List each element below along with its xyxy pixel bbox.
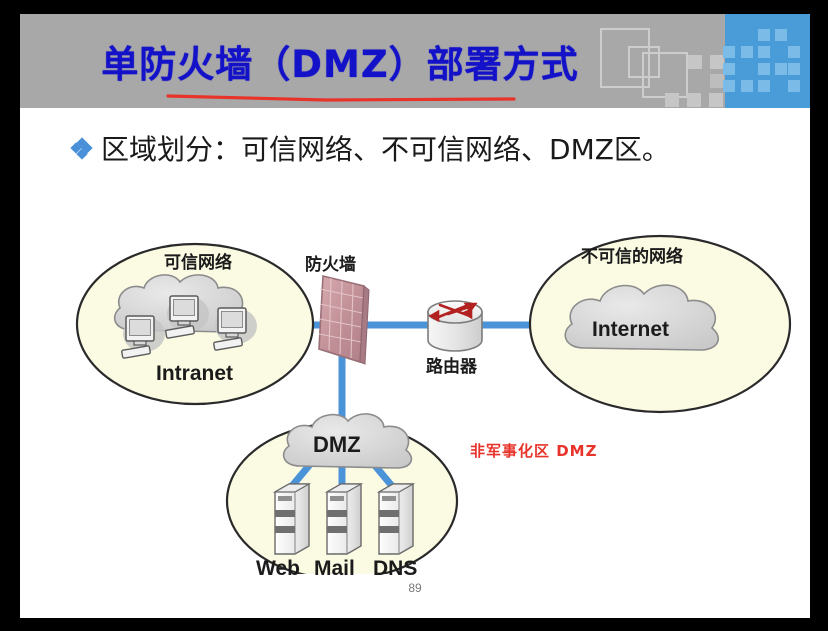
server-label-dns: DNS [373,557,417,581]
dmz-annotation: 非军事化区 DMZ [470,440,597,461]
deco-square-blue [758,29,770,41]
intranet-cloud-label: Intranet [156,362,233,386]
diagram-canvas [20,194,810,574]
deco-square [688,55,702,69]
deco-square-blue [741,80,753,92]
page-number: 89 [20,581,810,595]
firewall-icon [319,276,369,364]
deco-square [687,93,701,107]
diamond-bullet-icon [72,139,91,158]
slide-page: 单防火墙（DMZ）部署方式 区域划分：可信网络、不可信网络、DMZ区。 [20,14,810,618]
server-dns-icon [379,484,413,554]
server-label-web: Web [256,557,300,581]
deco-square-blue [741,46,753,58]
untrusted-zone-label: 不可信的网络 [581,242,683,267]
server-web-icon [275,484,309,554]
deco-square-blue [788,63,800,75]
network-diagram: 可信网络 Intranet 防火墙 路由器 不可信的网络 Internet DM… [20,194,810,574]
trusted-zone-label: 可信网络 [164,248,232,273]
deco-square-blue [723,80,735,92]
page-title: 单防火墙（DMZ）部署方式 [20,34,660,88]
deco-square [710,74,724,88]
internet-cloud-label: Internet [592,318,669,342]
deco-square-blue [758,63,770,75]
server-mail-icon [327,484,361,554]
router-icon [428,301,482,351]
bullet-row: 区域划分：可信网络、不可信网络、DMZ区。 [72,128,670,168]
deco-square-blue [758,46,770,58]
deco-square-blue [723,63,735,75]
deco-square-blue [758,80,770,92]
deco-square [665,93,679,107]
deco-square-blue [788,46,800,58]
title-underline [166,94,516,102]
slide-header: 单防火墙（DMZ）部署方式 [20,14,810,108]
deco-square-blue [723,46,735,58]
deco-square-blue [775,63,787,75]
firewall-label: 防火墙 [305,250,356,275]
deco-square-blue [775,29,787,41]
router-label: 路由器 [426,352,477,377]
deco-square [710,55,724,69]
slide-root: 单防火墙（DMZ）部署方式 区域划分：可信网络、不可信网络、DMZ区。 [0,0,828,631]
dmz-cloud-label: DMZ [313,432,361,458]
server-label-mail: Mail [314,557,355,581]
header-accent-panel [725,14,810,108]
bullet-text: 区域划分：可信网络、不可信网络、DMZ区。 [101,128,670,168]
deco-square-blue [788,80,800,92]
deco-square [709,93,723,107]
